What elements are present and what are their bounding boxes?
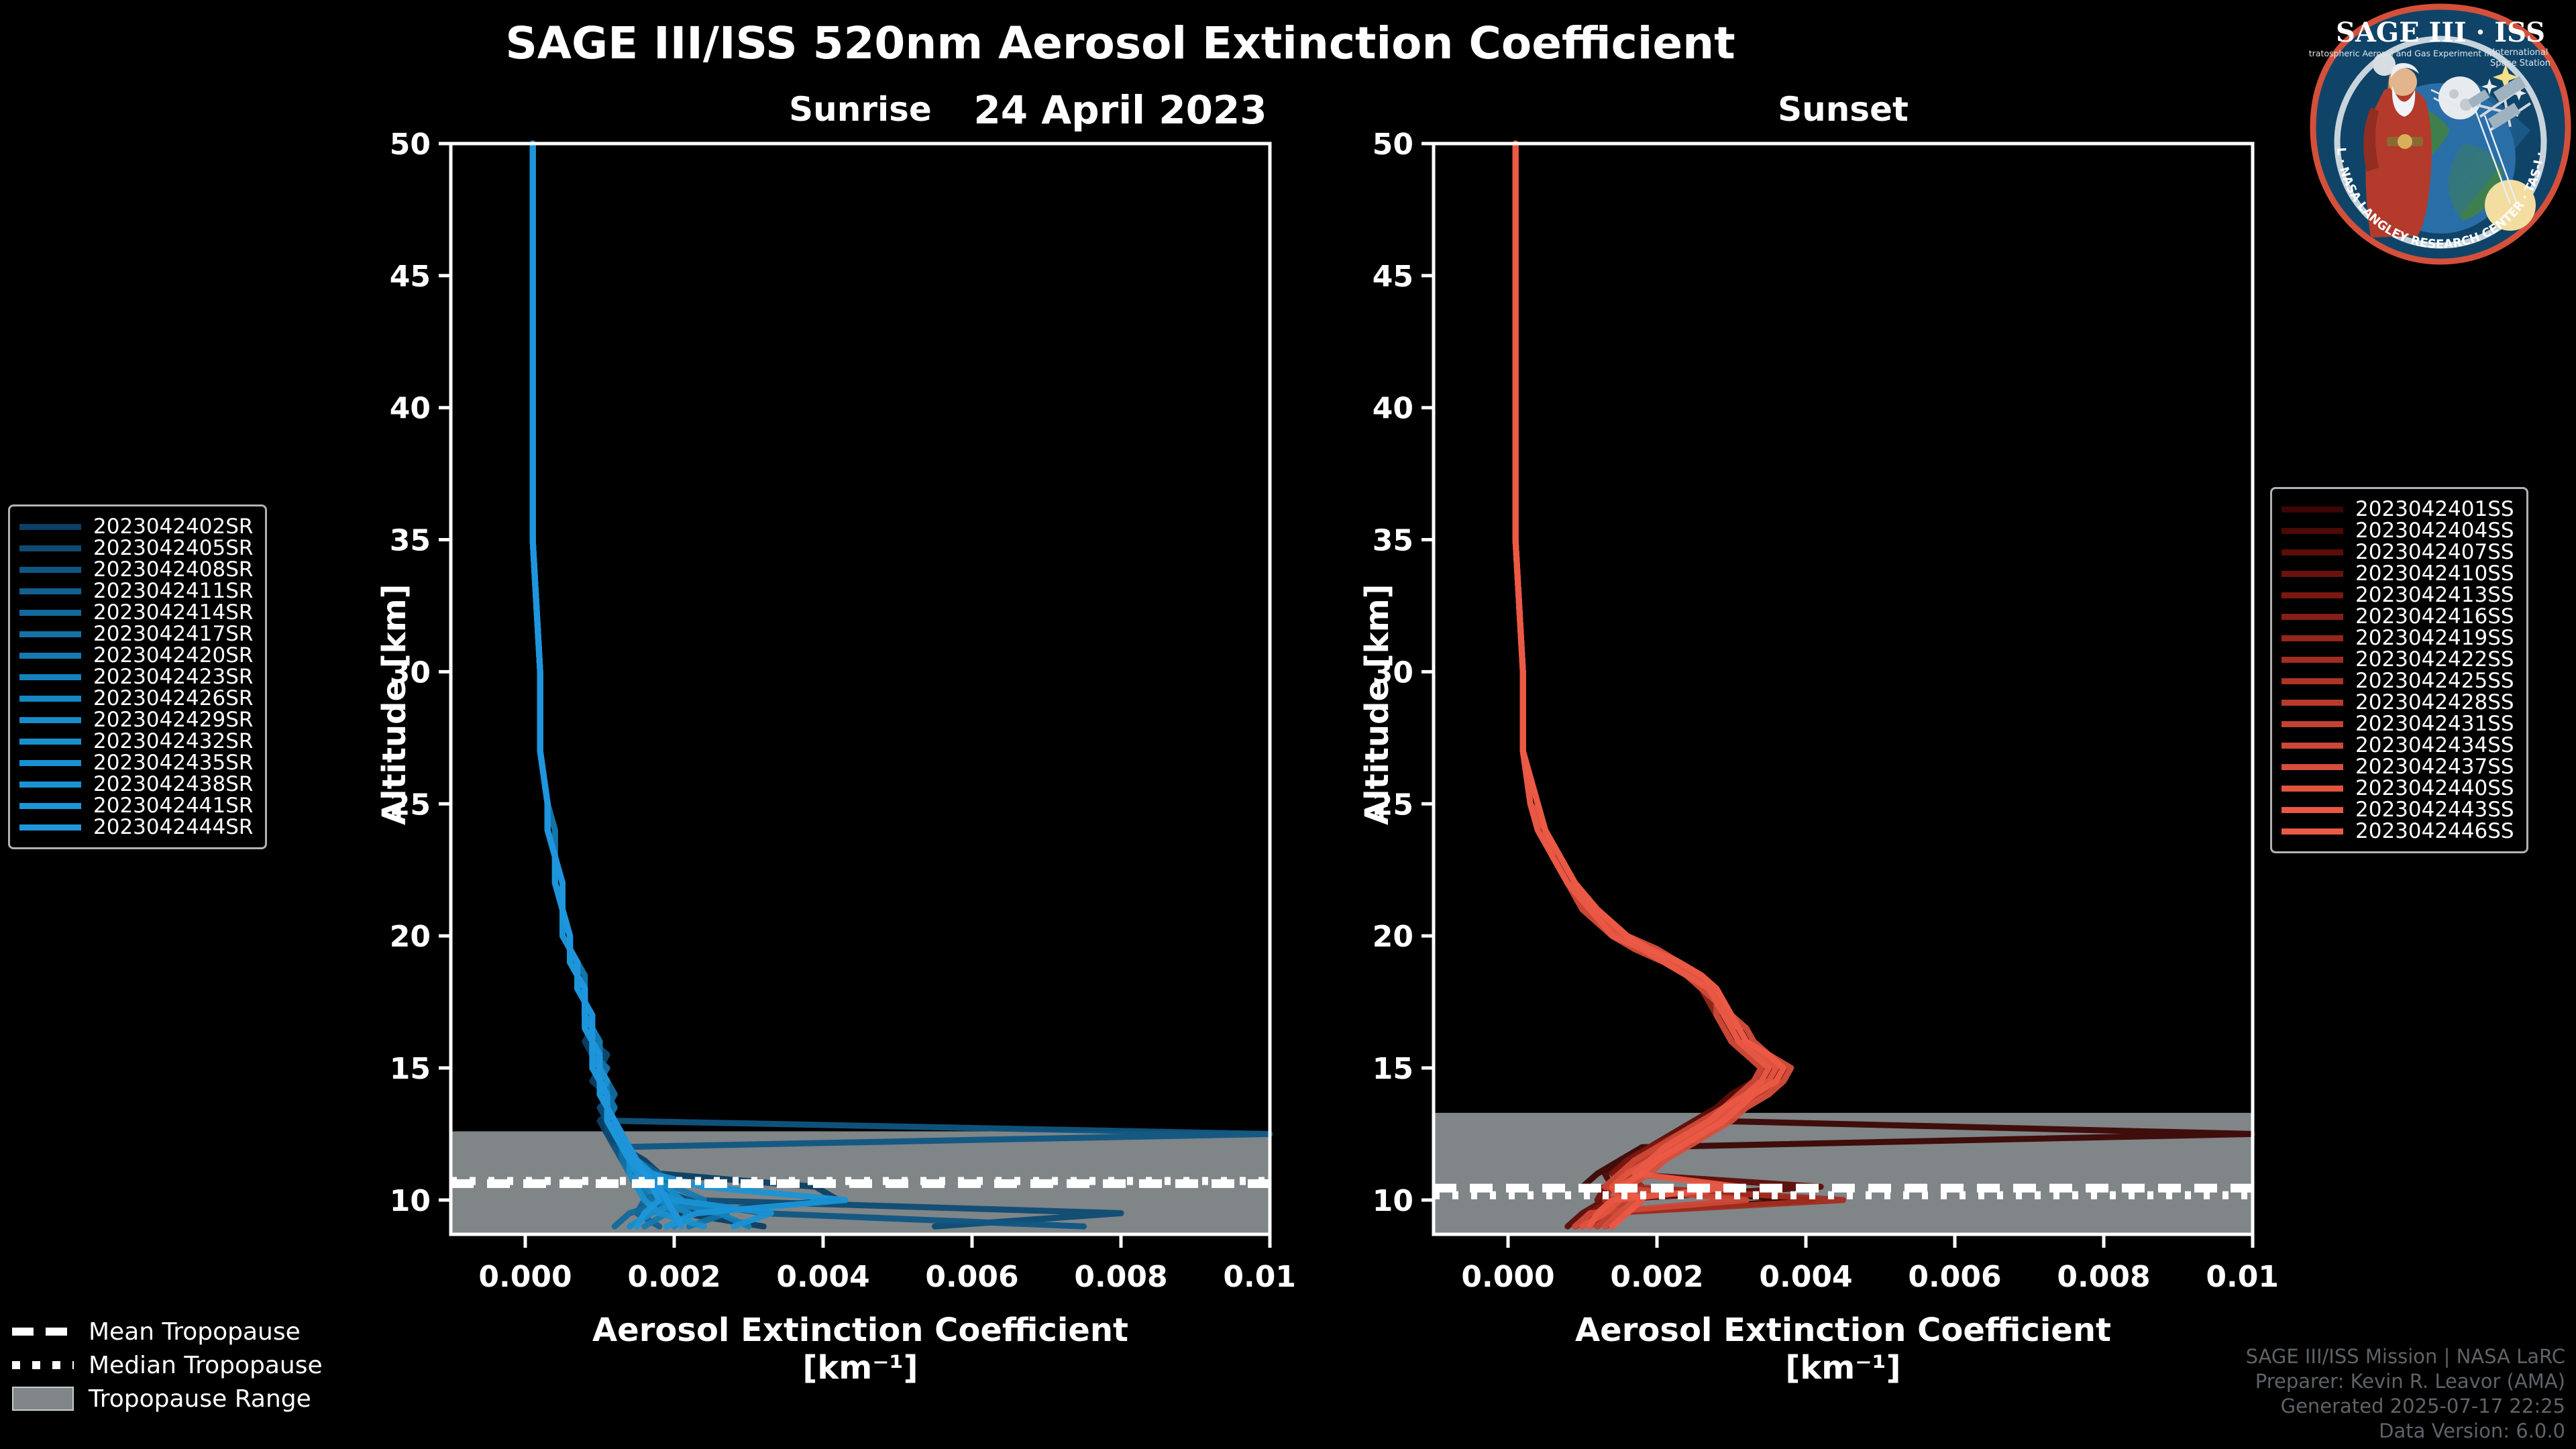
profile-line xyxy=(533,144,845,1226)
legend-item-tropopause-range: Tropopause Range xyxy=(12,1382,323,1415)
logo-subtitle-right-line2: Space Station xyxy=(2490,58,2551,68)
y-axis-tick-label: 35 xyxy=(1373,524,1413,558)
legend-label: 2023042437SS xyxy=(2355,755,2514,779)
x-axis-tick-label: 0.000 xyxy=(478,1260,572,1294)
profile-line xyxy=(1515,144,1776,1226)
profile-line xyxy=(1515,144,1776,1226)
y-axis-tick-label: 10 xyxy=(390,1184,431,1218)
legend-color-swatch-icon xyxy=(2282,528,2343,534)
y-axis-label-sunset: Altitude [km] xyxy=(1358,584,1396,825)
legend-item[interactable]: 2023042407SS xyxy=(2282,541,2514,563)
logo-subtitle-left: Stratospheric Aerosol and Gas Experiment… xyxy=(2309,48,2491,58)
legend-label-mean-tropopause: Mean Tropopause xyxy=(89,1318,301,1346)
legend-item[interactable]: 2023042410SS xyxy=(2282,563,2514,584)
dashed-line-icon xyxy=(12,1328,74,1336)
legend-item[interactable]: 2023042443SS xyxy=(2282,799,2514,820)
profile-line xyxy=(533,144,689,1226)
legend-color-swatch-icon xyxy=(2282,764,2343,770)
legend-label: 2023042401SS xyxy=(2355,497,2514,521)
legend-color-swatch-icon xyxy=(19,739,81,745)
legend-label: 2023042440SS xyxy=(2355,776,2514,800)
profile-line xyxy=(533,144,727,1226)
profile-line xyxy=(533,144,704,1226)
profile-line xyxy=(1515,144,1768,1226)
legend-label: 2023042431SS xyxy=(2355,712,2514,736)
legend-label-tropopause-range: Tropopause Range xyxy=(89,1385,311,1413)
credit-data-version: Data Version: 6.0.0 xyxy=(2246,1419,2565,1444)
profile-line xyxy=(1515,144,1784,1226)
legend-item[interactable]: 2023042408SR xyxy=(19,559,253,580)
legend-label: 2023042410SS xyxy=(2355,561,2514,586)
legend-color-swatch-icon xyxy=(19,824,81,830)
y-axis-tick-label: 35 xyxy=(390,524,431,558)
legend-item[interactable]: 2023042414SR xyxy=(19,602,253,623)
legend-label: 2023042429SR xyxy=(93,708,253,732)
legend-color-swatch-icon xyxy=(19,610,81,616)
legend-item[interactable]: 2023042435SR xyxy=(19,752,253,773)
plot-frame xyxy=(1434,144,2253,1234)
x-axis-tick-label: 0.008 xyxy=(2057,1260,2150,1294)
legend-label: 2023042438SR xyxy=(93,772,253,796)
legend-label: 2023042432SR xyxy=(93,729,253,753)
x-axis-tick-label: 0.000 xyxy=(1461,1260,1554,1294)
legend-color-swatch-icon xyxy=(19,717,81,723)
legend-label: 2023042408SR xyxy=(93,557,253,582)
legend-item[interactable]: 2023042444SR xyxy=(19,816,253,838)
legend-color-swatch-icon xyxy=(19,696,81,702)
legend-item[interactable]: 2023042405SR xyxy=(19,537,253,559)
legend-label: 2023042411SR xyxy=(93,579,253,603)
x-axis-tick-label: 0.004 xyxy=(1759,1260,1852,1294)
legend-item[interactable]: 2023042417SR xyxy=(19,623,253,645)
chart-sunset: 1015202530354045500.0000.0020.0040.0060.… xyxy=(1305,121,2277,1328)
legend-label: 2023042420SR xyxy=(93,643,253,667)
legend-label: 2023042443SS xyxy=(2355,798,2514,822)
legend-label: 2023042413SS xyxy=(2355,583,2514,607)
credit-mission: SAGE III/ISS Mission | NASA LaRC xyxy=(2246,1344,2565,1369)
legend-label: 2023042419SS xyxy=(2355,626,2514,650)
legend-color-swatch-icon xyxy=(2282,721,2343,727)
legend-label: 2023042441SR xyxy=(93,794,253,818)
legend-tropopause: Mean Tropopause Median Tropopause Tropop… xyxy=(12,1315,323,1415)
legend-color-swatch-icon xyxy=(2282,614,2343,620)
legend-item[interactable]: 2023042434SS xyxy=(2282,735,2514,756)
y-axis-tick-label: 15 xyxy=(1373,1052,1413,1086)
profile-line xyxy=(1515,144,2253,1226)
legend-color-swatch-icon xyxy=(2282,828,2343,835)
profile-line xyxy=(1515,144,1791,1226)
legend-label: 2023042426SR xyxy=(93,686,253,710)
logo-subtitle-right-line1: International xyxy=(2493,48,2548,58)
legend-label: 2023042417SR xyxy=(93,622,253,646)
legend-color-swatch-icon xyxy=(19,674,81,680)
legend-item-mean-tropopause: Mean Tropopause xyxy=(12,1315,323,1348)
y-axis-tick-label: 40 xyxy=(1373,392,1413,426)
legend-color-swatch-icon xyxy=(2282,549,2343,555)
legend-item[interactable]: 2023042402SR xyxy=(19,516,253,537)
legend-item[interactable]: 2023042419SS xyxy=(2282,627,2514,649)
x-axis-tick-label: 0.006 xyxy=(1908,1260,2001,1294)
x-axis-label-sunrise-line1: Aerosol Extinction Coefficient xyxy=(451,1312,1270,1350)
profile-line xyxy=(1515,144,1768,1226)
profile-line xyxy=(1515,144,1761,1226)
legend-color-swatch-icon xyxy=(2282,506,2343,513)
y-axis-label-sunrise: Altitude [km] xyxy=(376,584,413,825)
profile-line xyxy=(533,144,771,1226)
legend-color-swatch-icon xyxy=(19,524,81,530)
y-axis-tick-label: 15 xyxy=(390,1052,431,1086)
legend-item-median-tropopause: Median Tropopause xyxy=(12,1348,323,1382)
legend-color-swatch-icon xyxy=(2282,807,2343,813)
legend-item[interactable]: 2023042413SS xyxy=(2282,584,2514,606)
x-axis-label-sunset-units: [km⁻¹] xyxy=(1434,1350,2253,1387)
profile-line xyxy=(533,144,749,1226)
y-axis-tick-label: 45 xyxy=(1373,260,1413,294)
credit-preparer: Preparer: Kevin R. Leavor (AMA) xyxy=(2246,1369,2565,1394)
x-axis-tick-label: 0.010 xyxy=(2206,1260,2277,1294)
profile-line xyxy=(1515,144,1776,1226)
y-axis-tick-label: 50 xyxy=(390,127,431,162)
legend-label: 2023042416SS xyxy=(2355,604,2514,629)
legend-label: 2023042407SS xyxy=(2355,540,2514,564)
legend-item[interactable]: 2023042432SR xyxy=(19,731,253,752)
profile-line xyxy=(1515,144,1768,1226)
legend-item[interactable]: 2023042422SS xyxy=(2282,649,2514,670)
legend-item[interactable]: 2023042429SR xyxy=(19,709,253,731)
legend-label: 2023042423SR xyxy=(93,665,253,689)
profile-line xyxy=(533,144,838,1226)
x-axis-tick-label: 0.002 xyxy=(627,1260,720,1294)
legend-color-swatch-icon xyxy=(2282,700,2343,706)
legend-color-swatch-icon xyxy=(19,782,81,788)
profile-line xyxy=(533,144,1270,1226)
profile-line xyxy=(1515,144,1791,1226)
y-axis-tick-label: 40 xyxy=(390,392,431,426)
chart-sunrise: 1015202530354045500.0000.0020.0040.0060.… xyxy=(322,121,1295,1328)
legend-color-swatch-icon xyxy=(2282,657,2343,663)
legend-item[interactable]: 2023042411SR xyxy=(19,580,253,602)
y-axis-tick-label: 50 xyxy=(1373,127,1413,162)
legend-label: 2023042444SR xyxy=(93,815,253,839)
x-axis-tick-label: 0.002 xyxy=(1610,1260,1703,1294)
logo-title: SAGE III · ISS xyxy=(2336,17,2545,48)
x-axis-tick-label: 0.008 xyxy=(1074,1260,1167,1294)
legend-item[interactable]: 2023042404SS xyxy=(2282,520,2514,541)
legend-label: 2023042425SS xyxy=(2355,669,2514,693)
legend-color-swatch-icon xyxy=(2282,592,2343,598)
legend-item[interactable]: 2023042420SR xyxy=(19,645,253,666)
y-axis-tick-label: 10 xyxy=(1373,1184,1413,1218)
profile-line xyxy=(533,144,1121,1226)
legend-label: 2023042402SR xyxy=(93,515,253,539)
legend-color-swatch-icon xyxy=(19,631,81,637)
x-axis-label-sunset-line1: Aerosol Extinction Coefficient xyxy=(1434,1312,2253,1350)
legend-color-swatch-icon xyxy=(19,545,81,551)
legend-color-swatch-icon xyxy=(19,653,81,659)
legend-color-swatch-icon xyxy=(19,567,81,573)
legend-item[interactable]: 2023042425SS xyxy=(2282,670,2514,692)
profile-line xyxy=(1515,144,1784,1226)
legend-color-swatch-icon xyxy=(2282,743,2343,749)
y-axis-tick-label: 45 xyxy=(390,260,431,294)
legend-label: 2023042446SS xyxy=(2355,819,2514,843)
legend-color-swatch-icon xyxy=(2282,678,2343,684)
y-axis-tick-label: 20 xyxy=(1373,920,1413,954)
x-axis-tick-label: 0.010 xyxy=(1223,1260,1295,1294)
x-axis-label-sunset: Aerosol Extinction Coefficient [km⁻¹] xyxy=(1434,1312,2253,1387)
x-axis-tick-label: 0.004 xyxy=(776,1260,869,1294)
legend-label-median-tropopause: Median Tropopause xyxy=(89,1352,323,1379)
legend-label: 2023042435SR xyxy=(93,751,253,775)
x-axis-label-sunrise-units: [km⁻¹] xyxy=(451,1350,1270,1387)
page-title: SAGE III/ISS 520nm Aerosol Extinction Co… xyxy=(0,17,2241,69)
x-axis-tick-label: 0.006 xyxy=(925,1260,1018,1294)
plot-frame xyxy=(451,144,1270,1234)
legend-sunset[interactable]: 2023042401SS2023042404SS2023042407SS2023… xyxy=(2270,487,2528,853)
legend-label: 2023042414SR xyxy=(93,600,253,625)
legend-color-swatch-icon xyxy=(19,760,81,766)
profile-line xyxy=(1515,144,1776,1226)
legend-item[interactable]: 2023042426SR xyxy=(19,688,253,709)
legend-color-swatch-icon xyxy=(2282,635,2343,641)
legend-label: 2023042405SR xyxy=(93,536,253,560)
legend-item[interactable]: 2023042401SS xyxy=(2282,498,2514,520)
legend-label: 2023042434SS xyxy=(2355,733,2514,757)
credit-block: SAGE III/ISS Mission | NASA LaRC Prepare… xyxy=(2246,1344,2565,1444)
legend-item[interactable]: 2023042446SS xyxy=(2282,820,2514,842)
legend-item[interactable]: 2023042437SS xyxy=(2282,756,2514,777)
band-swatch-icon xyxy=(12,1387,74,1411)
legend-item[interactable]: 2023042431SS xyxy=(2282,713,2514,735)
profile-line xyxy=(1515,144,1843,1226)
legend-color-swatch-icon xyxy=(19,588,81,594)
legend-item[interactable]: 2023042440SS xyxy=(2282,777,2514,799)
profile-line xyxy=(1515,144,1761,1226)
legend-color-swatch-icon xyxy=(2282,786,2343,792)
legend-color-swatch-icon xyxy=(19,803,81,809)
legend-item[interactable]: 2023042428SS xyxy=(2282,692,2514,713)
profile-line xyxy=(533,144,704,1226)
legend-label: 2023042428SS xyxy=(2355,690,2514,714)
legend-item[interactable]: 2023042441SR xyxy=(19,795,253,816)
dotted-line-icon xyxy=(12,1361,74,1369)
sage-iii-iss-mission-patch-logo: SAGE III · ISS Stratospheric Aerosol and… xyxy=(2309,3,2572,266)
legend-item[interactable]: 2023042438SR xyxy=(19,773,253,795)
y-axis-tick-label: 20 xyxy=(390,920,431,954)
credit-generated: Generated 2025-07-17 22:25 xyxy=(2246,1394,2565,1419)
legend-label: 2023042404SS xyxy=(2355,519,2514,543)
x-axis-label-sunrise: Aerosol Extinction Coefficient [km⁻¹] xyxy=(451,1312,1270,1387)
legend-color-swatch-icon xyxy=(2282,571,2343,577)
legend-item[interactable]: 2023042416SS xyxy=(2282,606,2514,627)
legend-label: 2023042422SS xyxy=(2355,647,2514,672)
legend-item[interactable]: 2023042423SR xyxy=(19,666,253,688)
legend-sunrise[interactable]: 2023042402SR2023042405SR2023042408SR2023… xyxy=(8,504,267,849)
